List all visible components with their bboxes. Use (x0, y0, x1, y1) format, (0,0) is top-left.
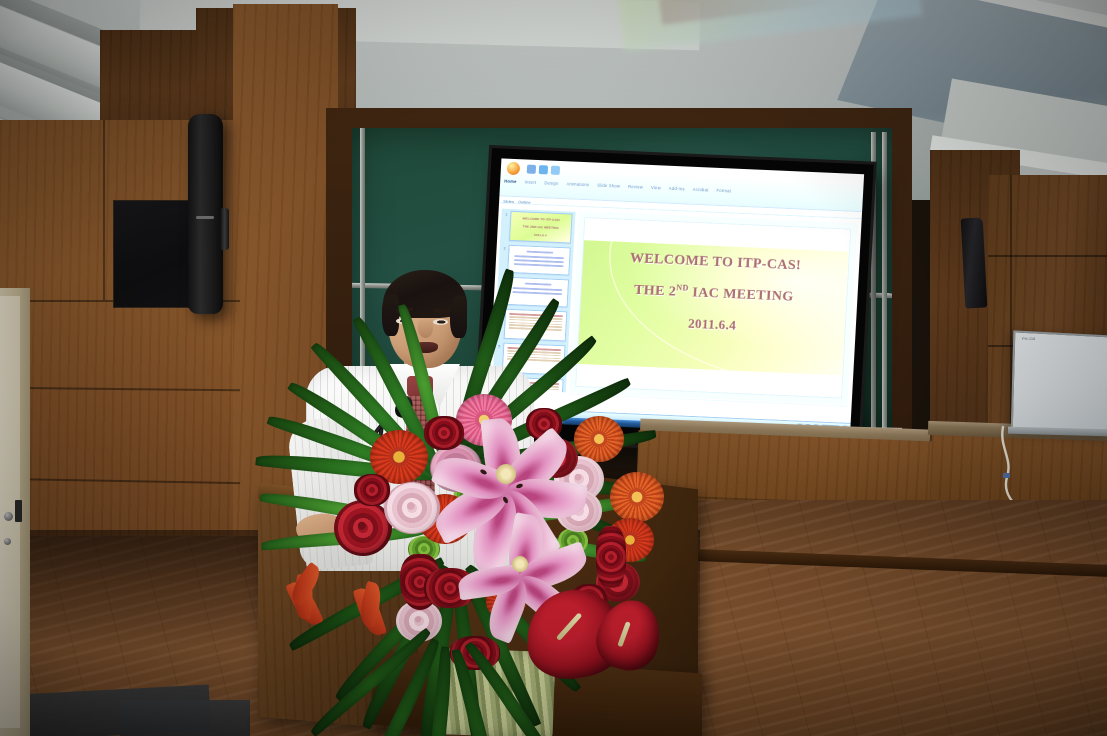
tab-design[interactable]: Design (544, 180, 559, 186)
slide-line-2: THE 2ND IAC MEETING (581, 280, 847, 307)
thumbnail-number-1: 1 (505, 213, 507, 217)
thumbnail-number-2: 2 (503, 247, 505, 251)
loudspeaker-left (188, 114, 223, 314)
wall-seam-vertical (103, 120, 105, 300)
lily-flower (506, 474, 508, 476)
current-slide[interactable]: □□□□□□ □□□□□□□ WELCOME TO ITP-CAS! THE 2… (575, 217, 852, 398)
thumbnail-1-line3: 2011.6.4 (510, 232, 570, 239)
thumbnail-2-title (526, 251, 553, 254)
thumbnail-1-line2: THE 2ND IAC MEETING (511, 224, 571, 231)
pane-tab-slides[interactable]: Slides (503, 199, 514, 208)
thumbnail-slide-1[interactable]: 1 WELCOME TO ITP-CAS! THE 2ND IAC MEETIN… (509, 211, 573, 244)
chalkboard-rail-vertical-right2 (882, 132, 887, 428)
floor-carpet-strip-2 (120, 700, 250, 736)
save-icon[interactable] (527, 165, 536, 174)
gerbera-orange (574, 416, 624, 462)
carnation-cluster (354, 474, 390, 506)
thumbnail-2-bullet (514, 263, 564, 267)
presentation-room-photo: Home Insert Design Animations Slide Show… (0, 0, 1107, 736)
office-orb-icon[interactable] (506, 161, 522, 177)
slide-editing-pane[interactable]: □□□□□□ □□□□□□□ WELCOME TO ITP-CAS! THE 2… (569, 211, 858, 405)
door-lock-icon[interactable] (4, 538, 11, 545)
slide-footer-note: □□□□□□□□ □□□□□ □□□□□□ (786, 390, 834, 395)
slide-text-block: WELCOME TO ITP-CAS! THE 2ND IAC MEETING … (579, 250, 849, 338)
tab-view[interactable]: View (651, 185, 661, 190)
presenter-hair-side-left (382, 294, 399, 336)
undo-icon[interactable] (539, 165, 548, 174)
tab-animations[interactable]: Animations (566, 181, 589, 187)
carnation-cluster (424, 416, 464, 450)
presenter-nose (418, 318, 433, 338)
thumbnail-1-line1: WELCOME TO ITP-CAS! (511, 216, 571, 223)
tab-slide-show[interactable]: Slide Show (597, 183, 620, 189)
lily-center (512, 556, 528, 572)
floral-arrangement (258, 378, 728, 736)
rose-light-pink (384, 482, 440, 534)
tab-review[interactable]: Review (628, 184, 643, 190)
tab-add-ins[interactable]: Add-Ins (669, 186, 685, 192)
wall-seam-right-1 (988, 255, 1107, 257)
pane-tab-outline[interactable]: Outline (518, 199, 531, 209)
tab-insert[interactable]: Insert (525, 179, 537, 185)
slide-line-2-pre: THE 2 (634, 283, 677, 300)
lily-flower-lower (520, 564, 522, 566)
whiteboard-brand-label: PH-118 (1022, 336, 1035, 341)
celosia-cluster (596, 526, 626, 588)
loudspeaker-mount-bracket (220, 208, 229, 250)
tab-format[interactable]: Format (716, 188, 731, 194)
presenter-hair-side-right (450, 296, 467, 338)
slide-line-2-ordinal: ND (676, 283, 689, 293)
slide-line-2-post: IAC MEETING (692, 286, 794, 305)
whiteboard (1011, 330, 1107, 435)
door-hinge-top (15, 500, 22, 522)
tab-home[interactable]: Home (504, 179, 517, 185)
loudspeaker-brand-badge (196, 216, 214, 219)
redo-icon[interactable] (551, 166, 560, 175)
loudspeaker-right (961, 217, 988, 308)
presenter-eye-right (433, 319, 448, 325)
door-knob-icon[interactable] (4, 512, 13, 521)
lily-center (496, 464, 516, 484)
gerbera-orange (610, 472, 664, 522)
tab-acrobat[interactable]: Acrobat (693, 187, 709, 193)
